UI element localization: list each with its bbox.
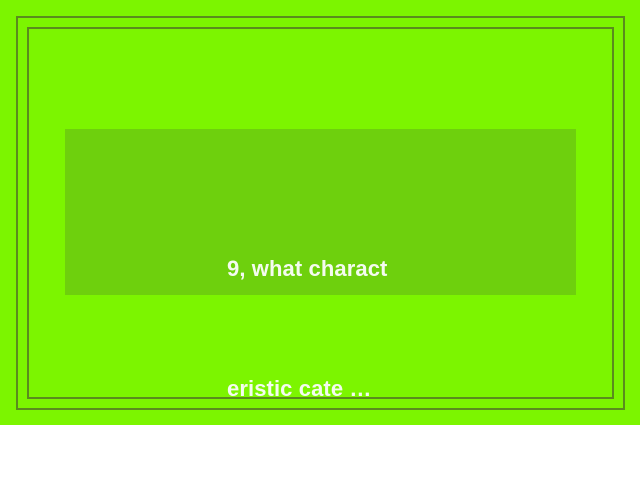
text-overlay-card: 9, what charact eristic cate … <box>65 129 576 295</box>
green-placeholder-canvas: 9, what charact eristic cate … <box>0 0 640 425</box>
card-text-block: 9, what charact eristic cate … <box>227 169 527 489</box>
card-text-line-1: 9, what charact <box>227 249 527 289</box>
card-text-line-2: eristic cate … <box>227 369 527 409</box>
